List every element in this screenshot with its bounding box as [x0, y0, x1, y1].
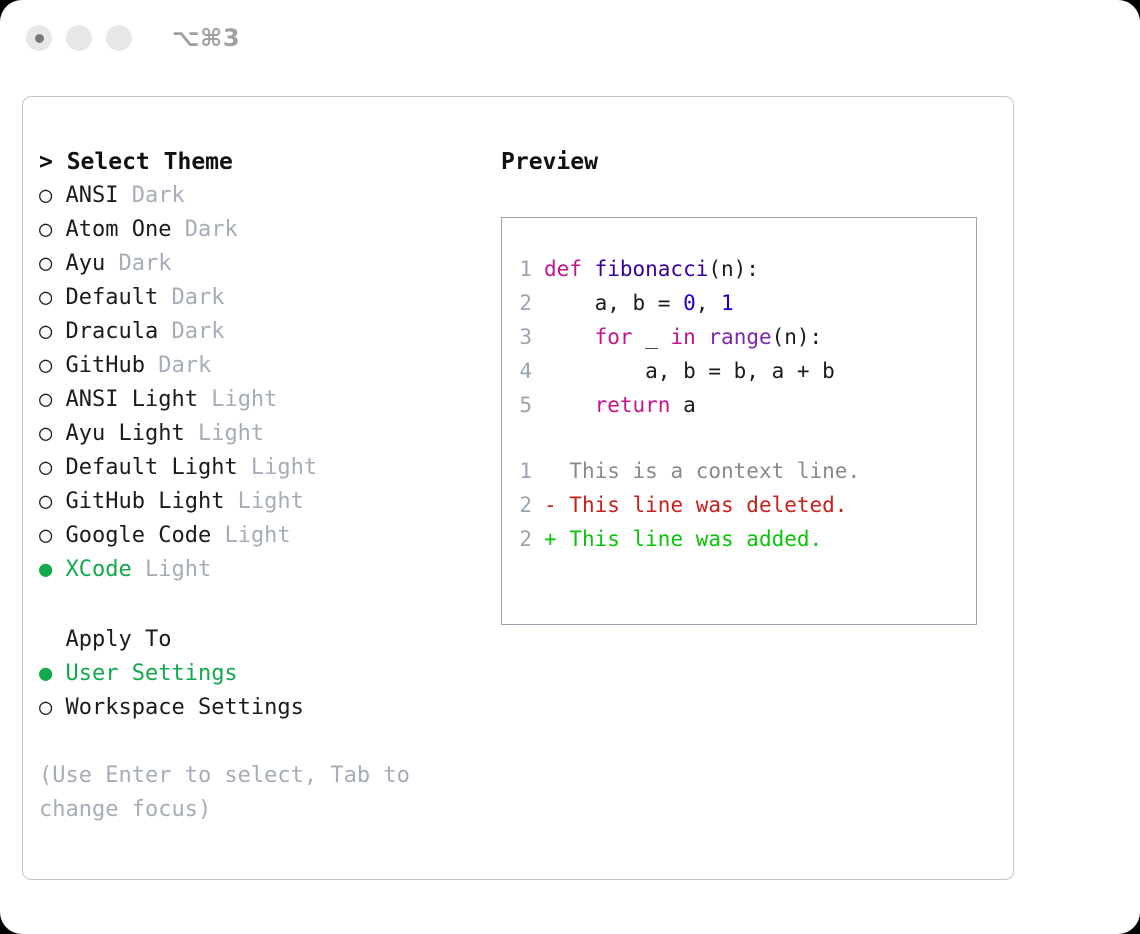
code-token-kw: return — [595, 393, 671, 417]
code-line-content: return a — [544, 388, 696, 422]
radio-unselected-icon: ○ — [39, 387, 52, 412]
code-token-pln — [696, 325, 709, 349]
diff-marker-icon — [544, 454, 569, 488]
theme-variant-label: Dark — [158, 285, 224, 310]
theme-option-label: Dracula — [52, 319, 158, 344]
theme-option-label: Google Code — [52, 523, 211, 548]
radio-selected-icon: ● — [39, 661, 52, 686]
line-number: 2 — [502, 488, 544, 522]
code-token-pln: a — [670, 393, 695, 417]
code-diff-spacer — [502, 422, 976, 454]
code-line: 5 return a — [502, 388, 976, 422]
code-token-kw: def — [544, 257, 595, 281]
apply-to-section: Apply To ● User Settings○ Workspace Sett… — [39, 623, 479, 725]
theme-option-dracula[interactable]: ○ Dracula Dark — [39, 315, 479, 349]
diff-line-content: This line was added. — [569, 522, 822, 556]
keyboard-hint: (Use Enter to select, Tab to change focu… — [39, 759, 459, 827]
apply-to-option-label: User Settings — [52, 661, 237, 686]
diff-line-content: This line was deleted. — [569, 488, 847, 522]
code-line-content: for _ in range(n): — [544, 320, 822, 354]
theme-variant-label: Light — [238, 455, 317, 480]
radio-unselected-icon: ○ — [39, 455, 52, 480]
traffic-light-third[interactable] — [106, 25, 132, 51]
theme-option-label: Default — [52, 285, 158, 310]
theme-variant-label: Light — [198, 387, 277, 412]
theme-option-ansi[interactable]: ○ ANSI Dark — [39, 179, 479, 213]
line-number: 3 — [502, 320, 544, 354]
title-bar: ⌥⌘3 — [0, 0, 1140, 76]
theme-variant-label: Light — [132, 557, 211, 582]
radio-unselected-icon: ○ — [39, 421, 52, 446]
radio-unselected-icon: ○ — [39, 251, 52, 276]
line-number: 1 — [502, 252, 544, 286]
code-token-pln: , — [696, 291, 721, 315]
code-line-content: a, b = b, a + b — [544, 354, 835, 388]
radio-unselected-icon: ○ — [39, 319, 52, 344]
theme-variant-label: Light — [224, 489, 303, 514]
radio-unselected-icon: ○ — [39, 183, 52, 208]
theme-option-label: GitHub Light — [52, 489, 224, 514]
theme-option-github-light[interactable]: ○ GitHub Light Light — [39, 485, 479, 519]
traffic-light-dot-icon — [35, 34, 44, 43]
diff-marker-icon: + — [544, 522, 569, 556]
theme-option-label: Ayu — [52, 251, 105, 276]
apply-to-list: ● User Settings○ Workspace Settings — [39, 657, 479, 725]
theme-option-ansi-light[interactable]: ○ ANSI Light Light — [39, 383, 479, 417]
theme-option-label: GitHub — [52, 353, 145, 378]
traffic-light-active[interactable] — [26, 25, 52, 51]
radio-unselected-icon: ○ — [39, 523, 52, 548]
diff-marker-icon: - — [544, 488, 569, 522]
code-token-fn: fibonacci — [595, 257, 709, 281]
line-number: 4 — [502, 354, 544, 388]
code-token-pln: _ — [633, 325, 671, 349]
theme-picker-heading: > Select Theme — [39, 145, 479, 179]
line-number: 1 — [502, 454, 544, 488]
code-token-pln: a, b = — [544, 291, 683, 315]
radio-unselected-icon: ○ — [39, 217, 52, 242]
code-token-num: 0 — [683, 291, 696, 315]
theme-option-ayu-light[interactable]: ○ Ayu Light Light — [39, 417, 479, 451]
code-line: 2 a, b = 0, 1 — [502, 286, 976, 320]
line-number: 5 — [502, 388, 544, 422]
theme-option-label: Atom One — [52, 217, 171, 242]
theme-variant-label: Dark — [145, 353, 211, 378]
code-token-pln — [544, 393, 595, 417]
code-token-pln: (n): — [772, 325, 823, 349]
shortcut-label: ⌥⌘3 — [172, 24, 240, 52]
theme-variant-label: Dark — [105, 251, 171, 276]
window-controls — [26, 25, 146, 51]
theme-option-label: ANSI — [52, 183, 118, 208]
theme-variant-label: Dark — [171, 217, 237, 242]
code-token-num: 1 — [721, 291, 734, 315]
theme-option-ayu[interactable]: ○ Ayu Dark — [39, 247, 479, 281]
theme-picker-pane: > Select Theme ○ ANSI Dark○ Atom One Dar… — [39, 145, 479, 827]
theme-option-label: ANSI Light — [52, 387, 198, 412]
code-token-pln — [544, 325, 595, 349]
radio-unselected-icon: ○ — [39, 489, 52, 514]
radio-unselected-icon: ○ — [39, 695, 52, 720]
theme-variant-label: Light — [211, 523, 290, 548]
preview-box: 1def fibonacci(n):2 a, b = 0, 13 for _ i… — [501, 217, 977, 625]
theme-list: ○ ANSI Dark○ Atom One Dark○ Ayu Dark○ De… — [39, 179, 479, 587]
code-line: 3 for _ in range(n): — [502, 320, 976, 354]
radio-unselected-icon: ○ — [39, 285, 52, 310]
theme-variant-label: Dark — [118, 183, 184, 208]
theme-option-default[interactable]: ○ Default Dark — [39, 281, 479, 315]
main-card: > Select Theme ○ ANSI Dark○ Atom One Dar… — [22, 96, 1014, 880]
theme-variant-label: Light — [185, 421, 264, 446]
apply-to-heading: Apply To — [39, 623, 479, 657]
theme-option-default-light[interactable]: ○ Default Light Light — [39, 451, 479, 485]
code-line-content: a, b = 0, 1 — [544, 286, 734, 320]
preview-pane: Preview 1def fibonacci(n):2 a, b = 0, 13… — [501, 145, 991, 625]
diff-line-add: 2+ This line was added. — [502, 522, 976, 556]
diff-line-content: This is a context line. — [569, 454, 860, 488]
code-line: 4 a, b = b, a + b — [502, 354, 976, 388]
code-sample: 1def fibonacci(n):2 a, b = 0, 13 for _ i… — [502, 252, 976, 422]
line-number: 2 — [502, 522, 544, 556]
preview-title: Preview — [501, 145, 991, 179]
code-line: 1def fibonacci(n): — [502, 252, 976, 286]
theme-option-atom-one[interactable]: ○ Atom One Dark — [39, 213, 479, 247]
code-token-cal: range — [708, 325, 771, 349]
code-token-pln: a, b = b, a + b — [544, 359, 835, 383]
code-token-kw: in — [670, 325, 695, 349]
theme-option-label: Ayu Light — [52, 421, 184, 446]
diff-sample: 1 This is a context line.2- This line wa… — [502, 454, 976, 556]
code-line-content: def fibonacci(n): — [544, 252, 759, 286]
theme-option-label: XCode — [52, 557, 131, 582]
code-token-pln: (n): — [708, 257, 759, 281]
theme-variant-label: Dark — [158, 319, 224, 344]
radio-selected-icon: ● — [39, 557, 52, 582]
theme-option-github[interactable]: ○ GitHub Dark — [39, 349, 479, 383]
theme-option-google-code[interactable]: ○ Google Code Light — [39, 519, 479, 553]
radio-unselected-icon: ○ — [39, 353, 52, 378]
diff-line-del: 2- This line was deleted. — [502, 488, 976, 522]
apply-to-option-workspace-settings[interactable]: ○ Workspace Settings — [39, 691, 479, 725]
apply-to-option-label: Workspace Settings — [52, 695, 304, 720]
traffic-light-second[interactable] — [66, 25, 92, 51]
code-token-kw: for — [595, 325, 633, 349]
line-number: 2 — [502, 286, 544, 320]
diff-line-ctx: 1 This is a context line. — [502, 454, 976, 488]
apply-to-option-user-settings[interactable]: ● User Settings — [39, 657, 479, 691]
theme-option-label: Default Light — [52, 455, 237, 480]
app-window: ⌥⌘3 > Select Theme ○ ANSI Dark○ Atom One… — [0, 0, 1140, 934]
theme-option-xcode[interactable]: ● XCode Light — [39, 553, 479, 587]
